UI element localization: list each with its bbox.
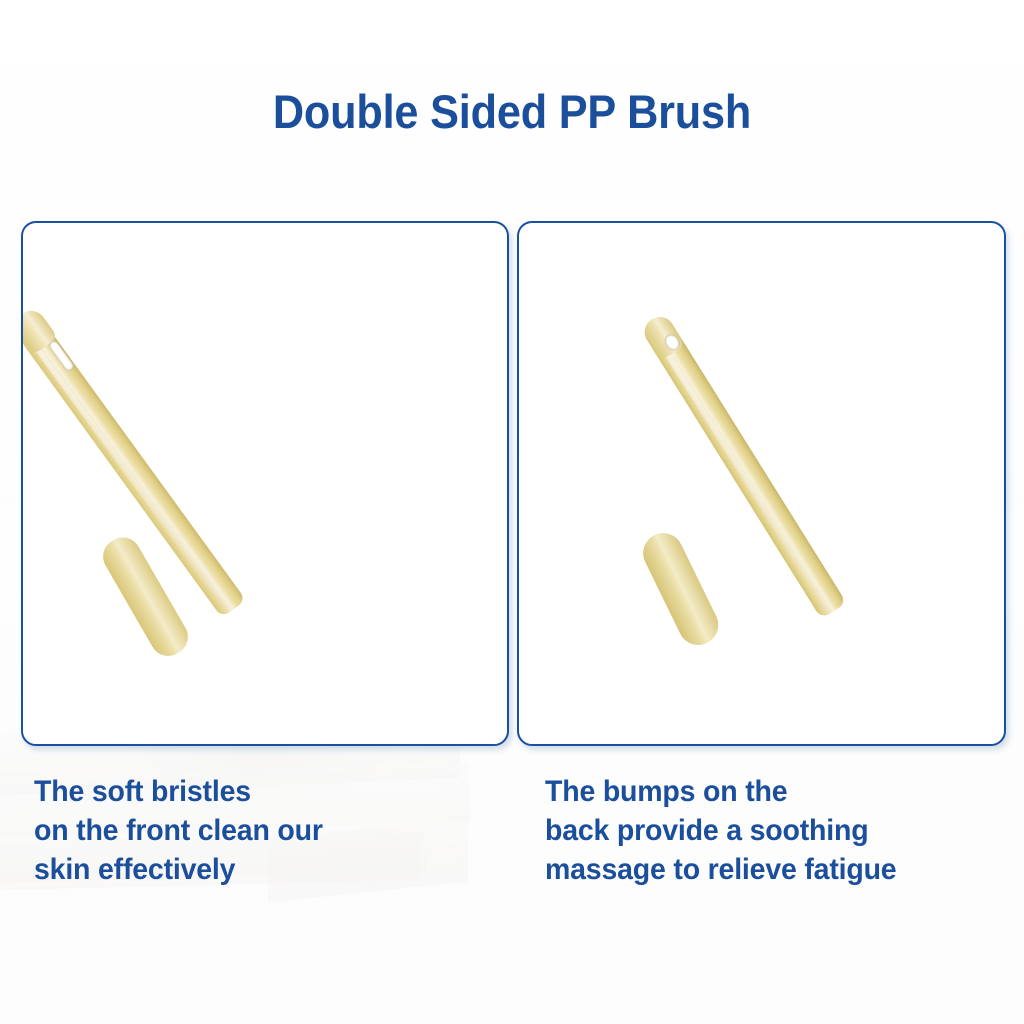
brush-neck [636, 526, 725, 651]
bristle-halo [53, 738, 265, 746]
brush-front-illustration [23, 223, 507, 744]
product-image-panel-back [517, 221, 1006, 746]
page-title: Double Sided PP Brush [41, 88, 983, 135]
feature-caption-front: The soft bristles on the front clean our… [34, 772, 433, 889]
product-infographic: Double Sided PP Brush [0, 0, 1024, 1024]
product-image-panel-front [21, 221, 509, 746]
brush-head-base [63, 741, 265, 746]
brush-back-illustration [519, 223, 1004, 744]
feature-caption-back: The bumps on the back provide a soothing… [545, 772, 963, 889]
